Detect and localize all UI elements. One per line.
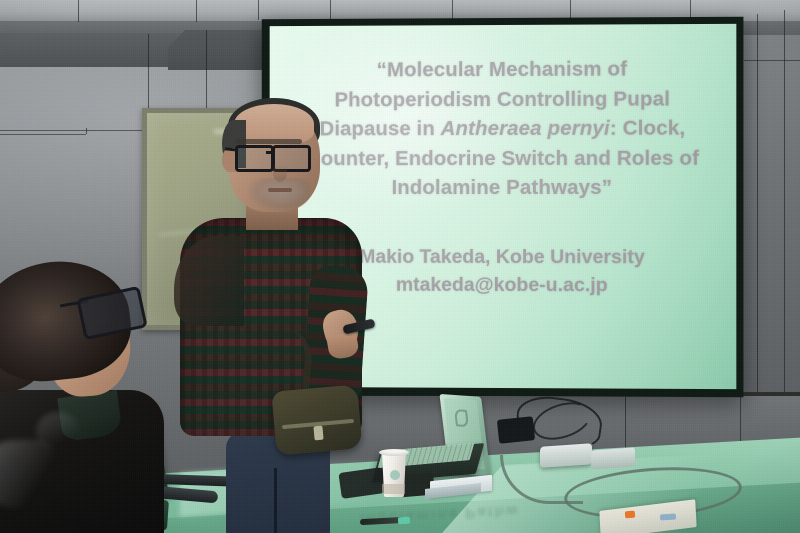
presenter-glasses-left-lens xyxy=(235,145,274,172)
audience-member xyxy=(0,262,204,533)
presenter-trouser-seam xyxy=(274,468,277,533)
booklet-marker-orange xyxy=(625,511,635,519)
wall-seam-far-right-2 xyxy=(784,10,785,398)
pen-cap xyxy=(398,517,410,525)
cable-connector-block xyxy=(497,416,535,444)
paper-cup-logo xyxy=(390,470,400,480)
ceiling-seam-4 xyxy=(452,0,453,19)
wall-seam-step xyxy=(86,128,87,134)
paper-cup-rim xyxy=(379,449,409,456)
presenter-glasses-bridge xyxy=(266,151,275,154)
wall-seam-right-edge xyxy=(258,0,259,20)
ceiling-seam-3 xyxy=(330,0,331,20)
ceiling-seam-2 xyxy=(196,0,197,22)
presenter-bag-zipper-pull xyxy=(313,426,323,441)
presenter-forehead xyxy=(234,104,314,144)
wall-seam-far-right-1 xyxy=(757,14,758,394)
presentation-photo: “Molecular Mechanism of Photoperiodism C… xyxy=(0,0,800,533)
wall-seam-left-1 xyxy=(148,34,149,110)
paper-cup-sleeve xyxy=(382,484,405,494)
presenter-mouth xyxy=(268,188,292,192)
ceiling-seam-1 xyxy=(78,0,79,22)
ceiling-seam-6 xyxy=(690,0,691,18)
presenter-eyebrows xyxy=(236,139,302,144)
booklet-marker-blue xyxy=(660,513,676,520)
wall-seam-far-right-h xyxy=(744,60,800,61)
jacket-highlight-2 xyxy=(36,412,80,452)
presenter xyxy=(178,96,378,533)
laptop-badge-icon xyxy=(454,409,469,427)
presenter-beard xyxy=(248,178,310,212)
projector-adapter-2 xyxy=(591,447,635,469)
wall-seam-h-1 xyxy=(0,130,150,131)
ceiling-seam-5 xyxy=(570,0,571,18)
wall-seam-h-2 xyxy=(0,134,86,135)
